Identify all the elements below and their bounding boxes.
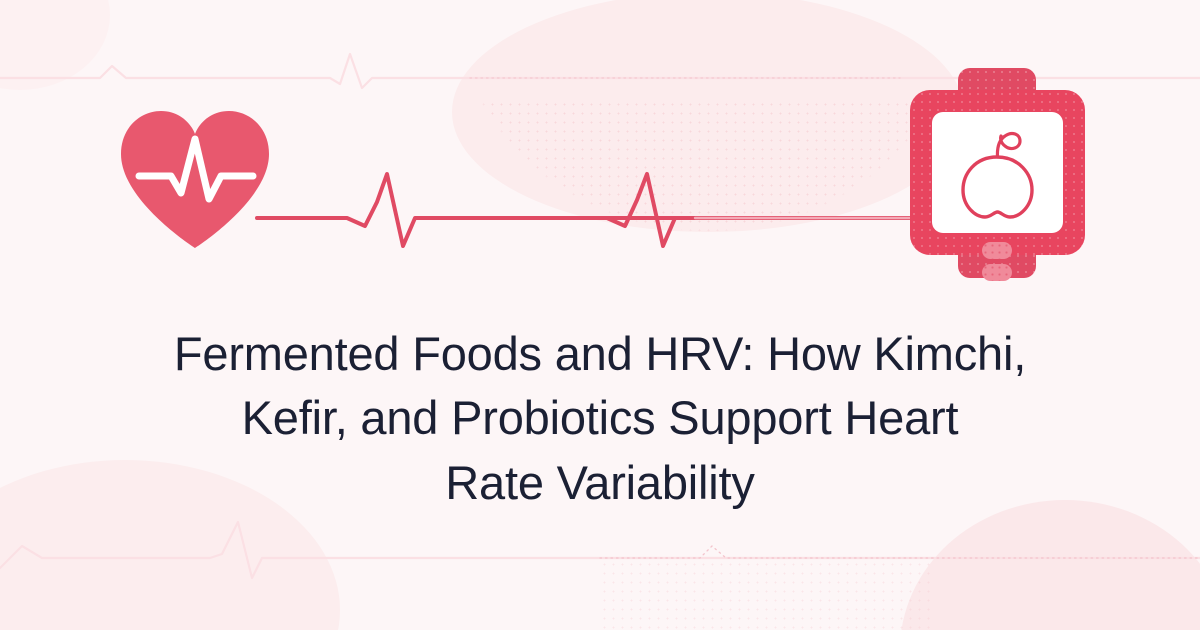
apple-body — [963, 157, 1032, 217]
smartwatch-icon — [910, 68, 1085, 278]
decorative-blob-top-left — [0, 0, 110, 90]
background-ecg-line-bottom — [0, 510, 1200, 590]
ecg-baseline-left — [257, 174, 875, 246]
watch-band-button-1[interactable] — [982, 242, 1012, 259]
og-image-canvas: Fermented Foods and HRV: How Kimchi, Kef… — [0, 0, 1200, 630]
heart-with-pulse-icon — [115, 105, 275, 250]
decorative-blob-bottom-right — [900, 500, 1200, 630]
page-title: Fermented Foods and HRV: How Kimchi, Kef… — [60, 322, 1140, 515]
ecg-beat-right — [585, 174, 931, 246]
watch-band-button-2[interactable] — [982, 264, 1012, 281]
apple-icon — [943, 122, 1052, 223]
apple-stem-leaf — [997, 134, 1020, 157]
decorative-dot-texture-bottom — [600, 560, 930, 630]
ecg-pulse-line — [255, 160, 935, 260]
title-block: Fermented Foods and HRV: How Kimchi, Kef… — [60, 322, 1140, 515]
